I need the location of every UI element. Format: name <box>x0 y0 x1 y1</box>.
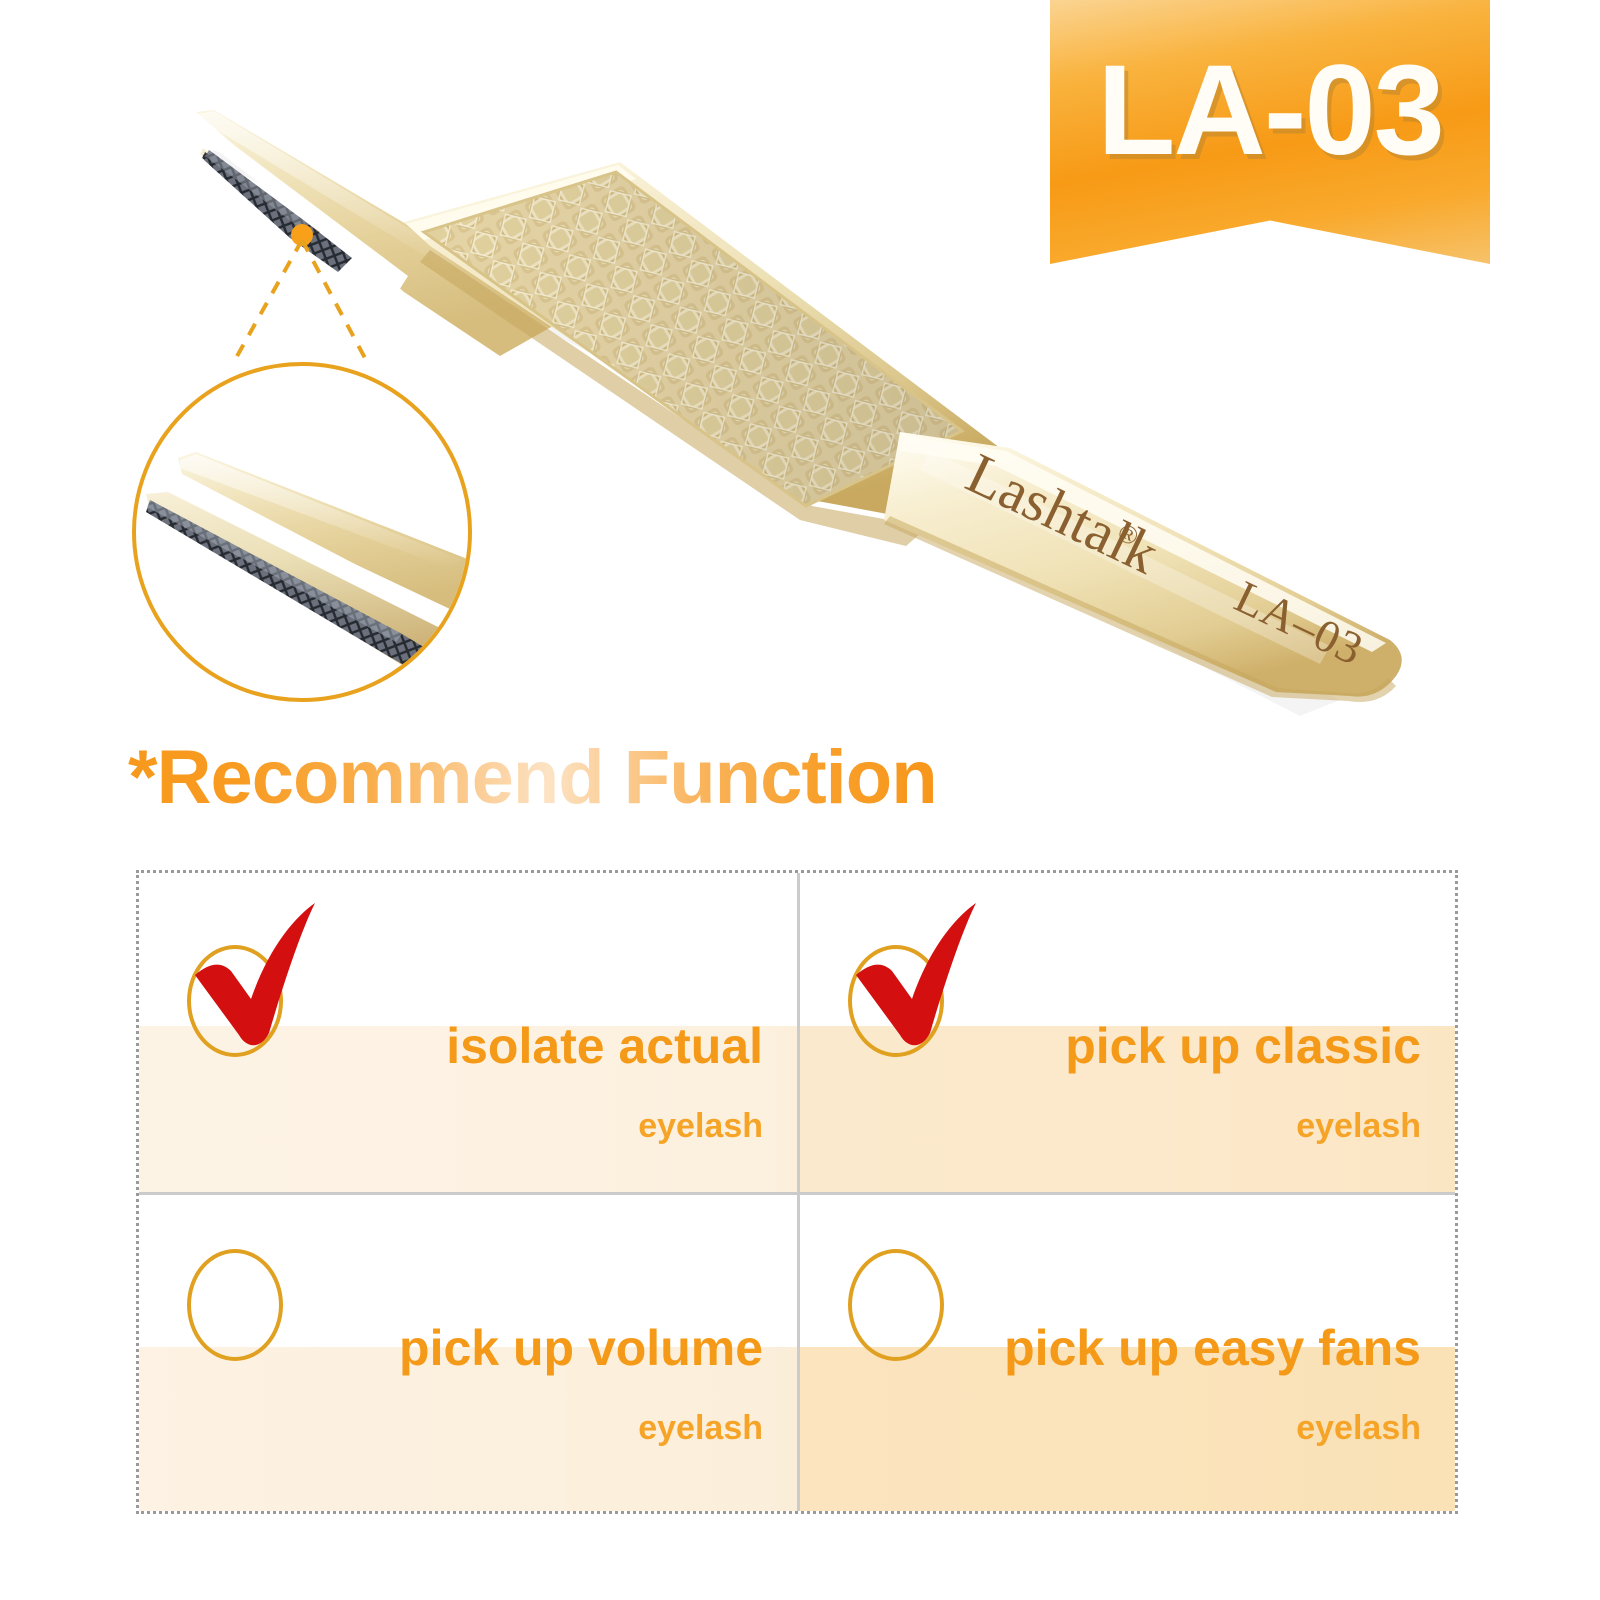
circle-outline-icon <box>187 1249 283 1361</box>
function-cell-pick-up-classic[interactable]: pick up classic eyelash <box>797 873 1455 1192</box>
recommend-function-heading: *Recommend Function <box>128 740 937 816</box>
function-subtitle: eyelash <box>638 1109 763 1143</box>
sku-banner-label: LA-03 <box>1097 47 1443 175</box>
leader-line-left <box>236 240 302 358</box>
circle-outline-icon <box>848 1249 944 1361</box>
function-title: pick up volume <box>399 1323 763 1373</box>
checkbox-checked[interactable] <box>848 945 944 1057</box>
checkbox-checked[interactable] <box>187 945 283 1057</box>
function-title: pick up classic <box>1065 1021 1421 1071</box>
circle-outline-icon <box>187 945 283 1057</box>
function-cell-pick-up-easy-fans[interactable]: pick up easy fans eyelash <box>797 1192 1455 1511</box>
circle-outline-icon <box>848 945 944 1057</box>
function-subtitle: eyelash <box>1296 1109 1421 1143</box>
recommend-function-grid: isolate actual eyelash pick up classic e… <box>136 870 1458 1514</box>
checkbox-unchecked[interactable] <box>187 1249 283 1361</box>
function-cell-isolate-actual[interactable]: isolate actual eyelash <box>139 873 797 1192</box>
checkbox-unchecked[interactable] <box>848 1249 944 1361</box>
function-subtitle: eyelash <box>638 1411 763 1445</box>
function-subtitle: eyelash <box>1296 1411 1421 1445</box>
function-title: pick up easy fans <box>1004 1323 1421 1373</box>
function-cell-pick-up-volume[interactable]: pick up volume eyelash <box>139 1192 797 1511</box>
function-title: isolate actual <box>446 1021 763 1071</box>
